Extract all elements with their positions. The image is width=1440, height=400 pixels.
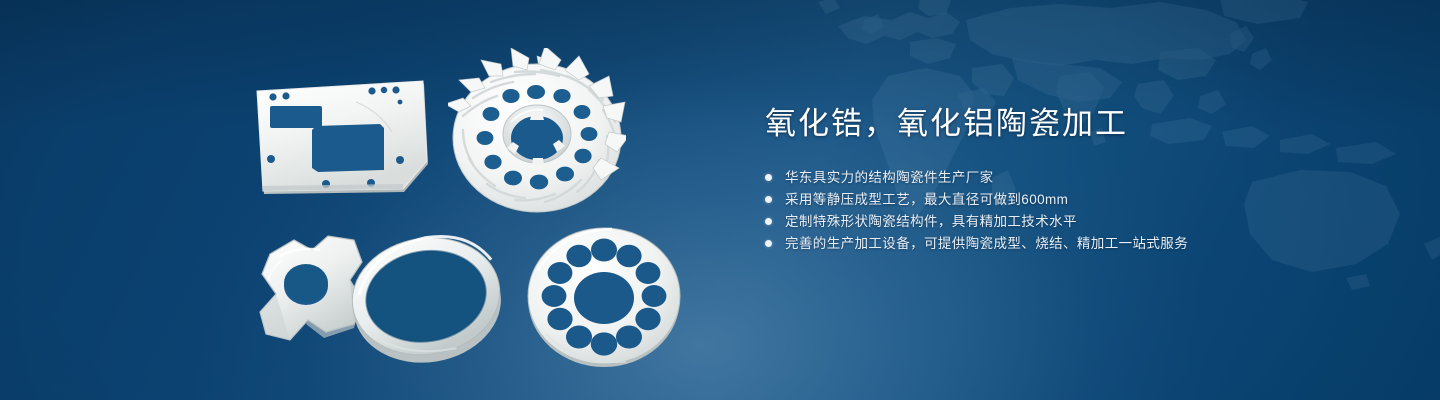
feature-text: 定制特殊形状陶瓷结构件，具有精加工技术水平 bbox=[785, 214, 1077, 229]
feature-list: 华东具实力的结构陶瓷件生产厂家 采用等静压成型工艺，最大直径可做到600mm 定… bbox=[765, 170, 1385, 251]
feature-text: 华东具实力的结构陶瓷件生产厂家 bbox=[785, 170, 994, 185]
ceramic-ring-image bbox=[338, 226, 518, 366]
list-item: 华东具实力的结构陶瓷件生产厂家 bbox=[765, 170, 1385, 185]
bullet-dot-icon bbox=[765, 196, 772, 203]
list-item: 采用等静压成型工艺，最大直径可做到600mm bbox=[765, 192, 1385, 207]
copy-block: 氧化锆，氧化铝陶瓷加工 华东具实力的结构陶瓷件生产厂家 采用等静压成型工艺，最大… bbox=[765, 104, 1385, 258]
feature-text: 完善的生产加工设备，可提供陶瓷成型、烧结、精加工一站式服务 bbox=[785, 236, 1188, 251]
page-title: 氧化锆，氧化铝陶瓷加工 bbox=[765, 104, 1385, 144]
ceramic-perforated-disc-image bbox=[518, 222, 690, 370]
bullet-dot-icon bbox=[765, 174, 772, 181]
ceramic-machined-plate-image bbox=[252, 78, 432, 200]
bullet-dot-icon bbox=[765, 240, 772, 247]
list-item: 定制特殊形状陶瓷结构件，具有精加工技术水平 bbox=[765, 214, 1385, 229]
feature-text: 采用等静压成型工艺，最大直径可做到600mm bbox=[785, 192, 1068, 207]
hero-banner: 氧化锆，氧化铝陶瓷加工 华东具实力的结构陶瓷件生产厂家 采用等静压成型工艺，最大… bbox=[0, 0, 1440, 400]
bullet-dot-icon bbox=[765, 218, 772, 225]
ceramic-vaned-impeller-image bbox=[448, 48, 626, 220]
list-item: 完善的生产加工设备，可提供陶瓷成型、烧结、精加工一站式服务 bbox=[765, 236, 1385, 251]
